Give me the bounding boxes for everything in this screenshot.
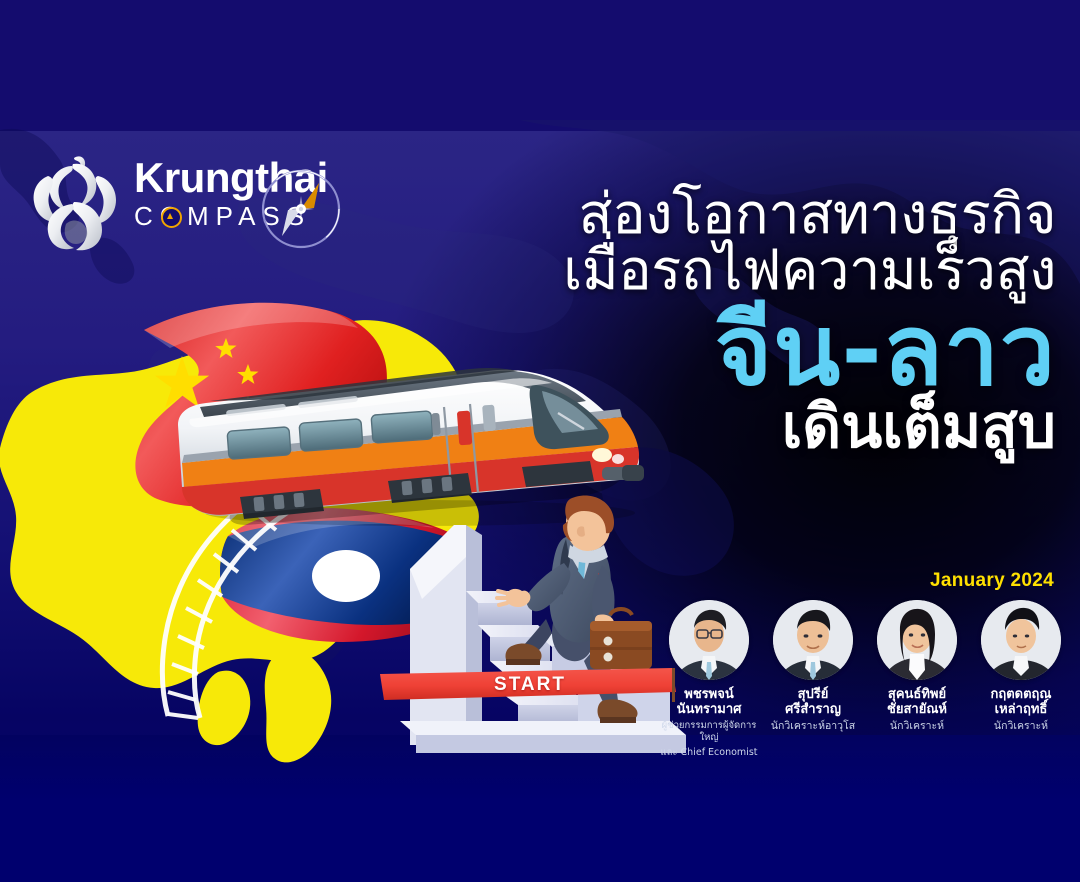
author-avatar-1 xyxy=(669,600,749,680)
author-avatar-4 xyxy=(981,600,1061,680)
author-role-line1: ผู้ช่วยกรรมการผู้จัดการใหญ่ xyxy=(660,720,758,744)
author-card: กฤตดตฤณ เหล่าฤทธิ์ นักวิเคราะห์ xyxy=(972,600,1070,759)
author-name-line1: พชรพจน์ xyxy=(660,687,758,702)
start-banner-label: START xyxy=(380,674,680,696)
author-name-line1: สุปรีย์ xyxy=(764,687,862,702)
author-avatar-3 xyxy=(877,600,957,680)
author-card: สุคนธ์ทิพย์ ชัยสายัณห์ นักวิเคราะห์ xyxy=(868,600,966,759)
author-avatar-2 xyxy=(773,600,853,680)
author-card: พชรพจน์ นันทรามาศ ผู้ช่วยกรรมการผู้จัดกา… xyxy=(660,600,758,759)
author-name-line2: ชัยสายัณห์ xyxy=(868,702,966,717)
author-name-line2: ศรีสำราญ xyxy=(764,702,862,717)
author-name-line1: กฤตดตฤณ xyxy=(972,687,1070,702)
headline-line-2: เมื่อรถไฟความเร็วสูง xyxy=(416,242,1056,300)
compass-o-icon xyxy=(161,207,182,228)
author-role-line2: และ Chief Economist xyxy=(660,747,758,759)
author-role-line1: นักวิเคราะห์อาวุโส xyxy=(764,720,862,733)
brand-logo-block: Krungthai COMPASS xyxy=(28,152,358,257)
author-name-line2: นันทรามาศ xyxy=(660,702,758,717)
krungthai-wayupak-bird-logo xyxy=(28,152,120,252)
author-role-line1: นักวิเคราะห์ xyxy=(972,720,1070,733)
background-top-band xyxy=(0,0,1080,131)
staircase-illustration xyxy=(370,495,700,755)
compass-dial-icon xyxy=(258,166,344,252)
headline-line-1: ส่องโอกาสทางธุรกิจ xyxy=(416,186,1056,244)
poster-canvas: Krungthai COMPASS xyxy=(0,0,1080,882)
author-name-line1: สุคนธ์ทิพย์ xyxy=(868,687,966,702)
author-card: สุปรีย์ ศรีสำราญ นักวิเคราะห์อาวุโส xyxy=(764,600,862,759)
author-name-line2: เหล่าฤทธิ์ xyxy=(972,702,1070,717)
publication-date: January 2024 xyxy=(930,570,1054,592)
author-list: พชรพจน์ นันทรามาศ ผู้ช่วยกรรมการผู้จัดกา… xyxy=(660,600,1070,759)
author-role-line1: นักวิเคราะห์ xyxy=(868,720,966,733)
